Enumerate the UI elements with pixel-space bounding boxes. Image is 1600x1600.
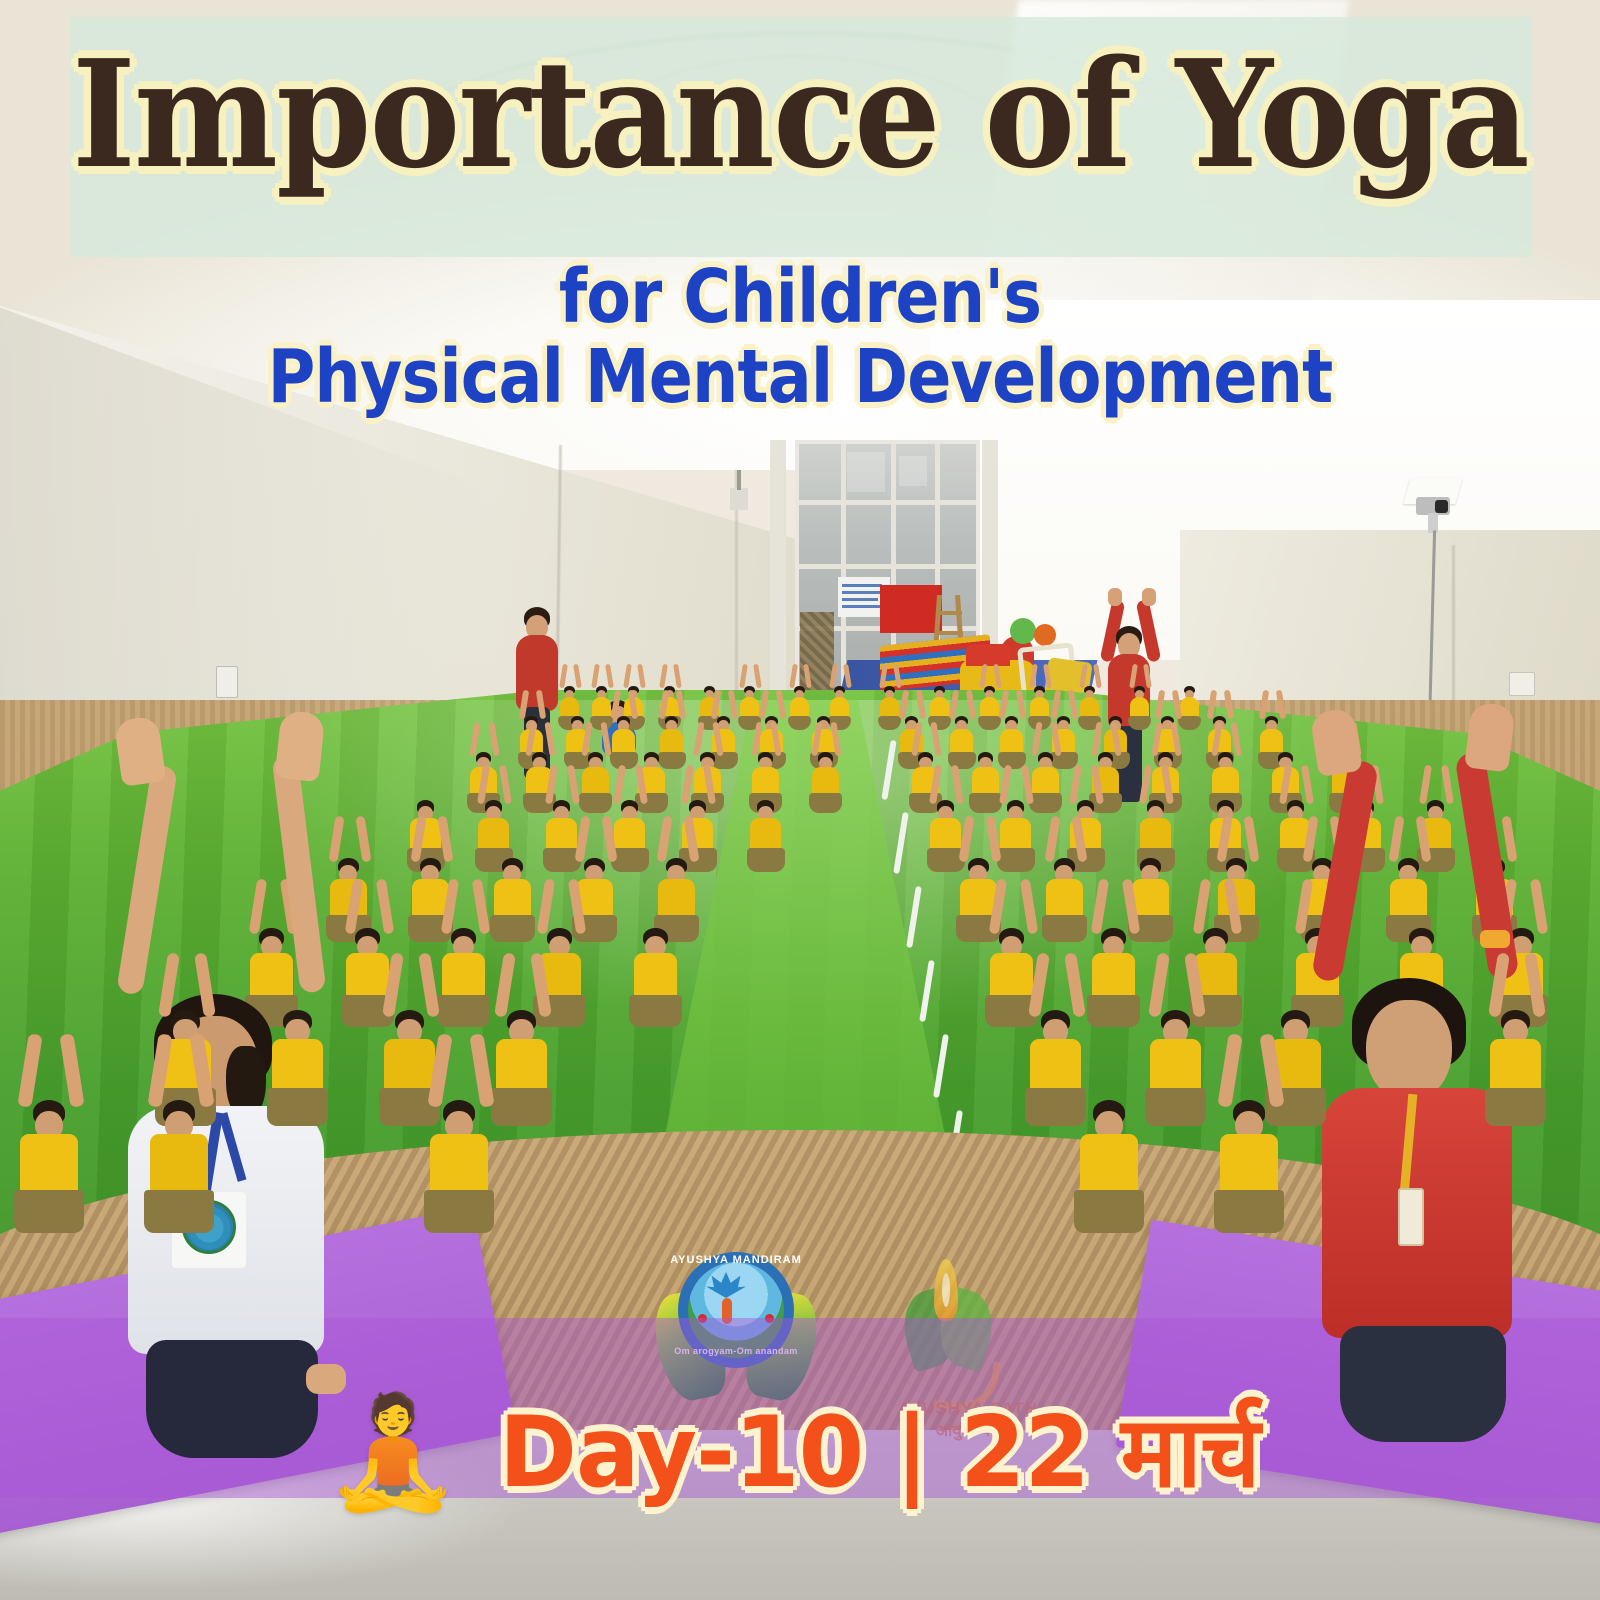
child-uniform-shorts — [14, 1190, 85, 1233]
child-uniform-shorts — [424, 1190, 495, 1233]
child-seated — [384, 1010, 435, 1105]
child-uniform-shorts — [809, 793, 841, 813]
child-seated — [930, 800, 961, 858]
child-seated — [546, 800, 577, 858]
window-pane-glow-2 — [899, 456, 927, 486]
child-seated — [582, 752, 609, 802]
child-seated — [812, 752, 839, 802]
child-uniform-shorts — [491, 1088, 553, 1125]
child-uniform-shorts — [611, 848, 649, 871]
child-seated — [1390, 858, 1427, 927]
window-pane-glow — [847, 452, 885, 492]
child-seated — [592, 686, 611, 722]
child-uniform-shorts — [629, 995, 682, 1027]
child-seated — [1212, 752, 1239, 802]
child-seated — [950, 716, 973, 759]
child-uniform-shorts — [437, 995, 490, 1027]
child-uniform-shorts — [997, 848, 1035, 871]
child-seated — [496, 1010, 547, 1105]
child-uniform-shorts — [1074, 1190, 1145, 1233]
child-seated — [442, 928, 485, 1009]
child-seated — [1150, 1010, 1201, 1105]
child-uniform-shorts — [1042, 915, 1087, 942]
child-uniform-shorts — [747, 848, 785, 871]
child-seated — [1030, 686, 1049, 722]
child-seated — [1092, 928, 1135, 1009]
child-seated — [1032, 752, 1059, 802]
child-seated — [612, 716, 635, 759]
child-seated — [478, 800, 509, 858]
child-seated — [250, 928, 293, 1009]
child-seated — [752, 752, 779, 802]
child-uniform-shorts — [1087, 995, 1140, 1027]
child-seated — [1080, 1100, 1138, 1208]
wrist-band — [1480, 930, 1510, 948]
toy-ball-green — [1010, 618, 1036, 644]
child-uniform-shorts — [1485, 1088, 1547, 1125]
child-arm-right — [1093, 664, 1101, 689]
child-uniform-shorts — [579, 793, 611, 813]
child-uniform-shorts — [1029, 793, 1061, 813]
day-label: Day-10 | 22 मार्च — [499, 1404, 1259, 1502]
child-seated — [658, 858, 695, 927]
child-seated — [634, 928, 677, 1009]
teacher-id-card — [1398, 1188, 1424, 1246]
power-socket-icon — [1509, 672, 1535, 696]
child-seated — [790, 686, 809, 722]
toy-ball-orange — [1034, 624, 1056, 646]
child-seated — [1180, 686, 1199, 722]
child-seated — [750, 800, 781, 858]
child-seated — [1140, 800, 1171, 858]
page-title: Importance of Yoga — [64, 40, 1536, 188]
subtitle-line-1: for Children's — [96, 258, 1504, 338]
wall-bracket-pin — [737, 470, 741, 490]
child-arm-right — [1143, 664, 1151, 689]
meditation-person-icon: 🧘 — [324, 1398, 461, 1508]
child-seated — [272, 1010, 323, 1105]
child-seated — [1080, 686, 1099, 722]
subtitle-line-2: Physical Mental Development — [96, 338, 1504, 418]
logo-name-top: AYUSHYA MANDIRAM — [652, 1254, 820, 1266]
cctv-camera-lens — [1435, 500, 1448, 513]
child-seated — [1000, 800, 1031, 858]
child-seated — [20, 1100, 78, 1208]
child-uniform-shorts — [267, 1088, 329, 1125]
child-seated — [980, 686, 999, 722]
child-uniform-shorts — [969, 793, 1001, 813]
yoga-poster: Importance of Yoga for Children's Physic… — [0, 0, 1600, 1600]
child-seated — [1220, 1100, 1278, 1208]
child-seated — [1046, 858, 1083, 927]
child-uniform-shorts — [144, 1190, 215, 1233]
child-seated — [990, 928, 1033, 1009]
child-uniform-shorts — [1214, 1190, 1285, 1233]
child-seated — [494, 858, 531, 927]
child-seated — [1490, 1010, 1541, 1105]
page-subtitle: for Children's Physical Mental Developme… — [96, 258, 1504, 418]
child-seated — [1030, 1010, 1081, 1105]
child-seated — [880, 686, 899, 722]
child-seated — [972, 752, 999, 802]
child-seated — [346, 928, 389, 1009]
light-switch-icon — [216, 666, 238, 698]
child-seated — [1130, 686, 1149, 722]
child-seated — [740, 686, 759, 722]
child-seated — [614, 800, 645, 858]
child-uniform-shorts — [1025, 1088, 1087, 1125]
child-uniform-shorts — [490, 915, 535, 942]
flame-icon-core — [942, 1273, 950, 1307]
child-seated — [1000, 716, 1023, 759]
door-frame-left — [770, 440, 786, 730]
child-seated — [930, 686, 949, 722]
child-seated — [150, 1100, 208, 1208]
child-seated — [430, 1100, 488, 1208]
child-uniform-shorts — [1145, 1088, 1207, 1125]
wall-bracket — [730, 488, 748, 510]
